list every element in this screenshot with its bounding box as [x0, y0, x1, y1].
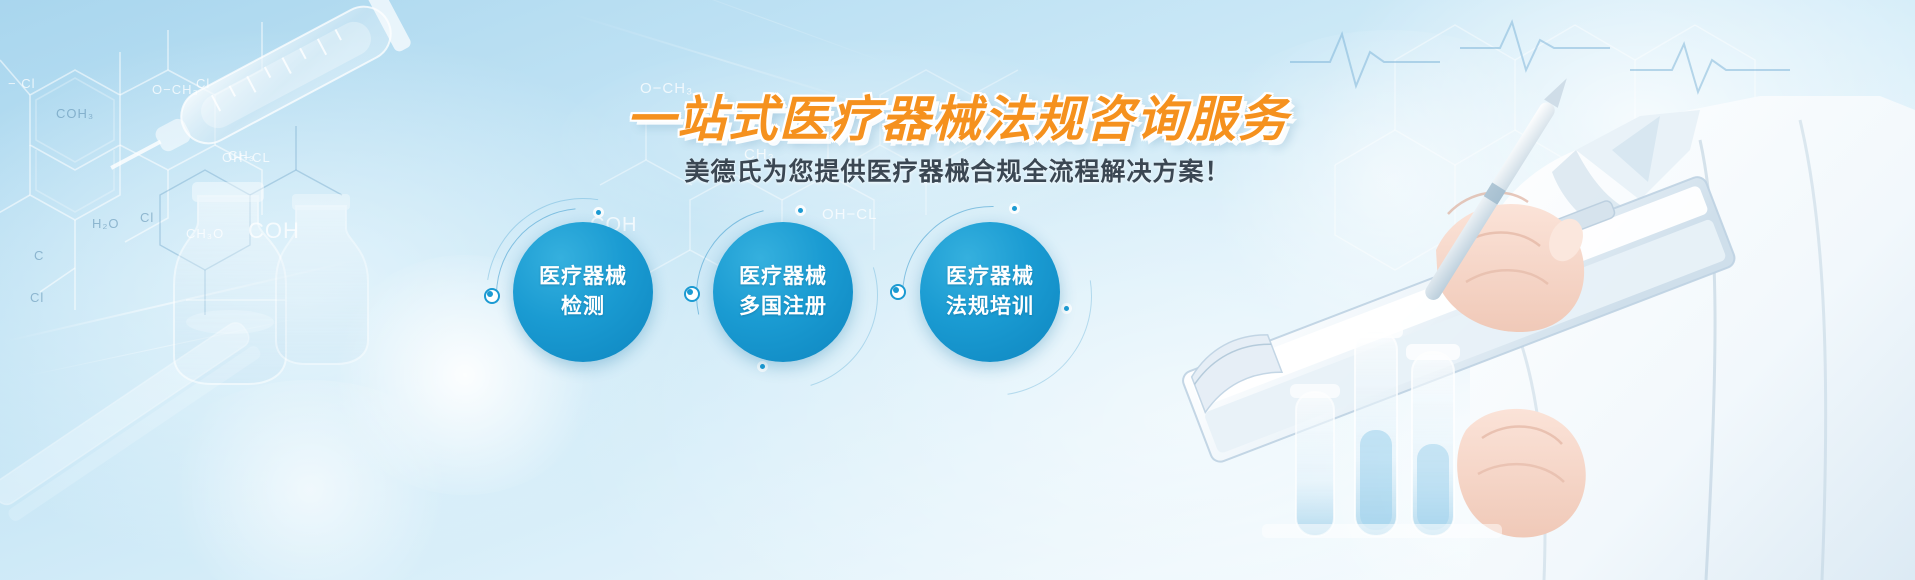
chem-label: OH−CL [822, 206, 877, 223]
accent-dot [890, 284, 906, 300]
accent-dot [1012, 206, 1017, 211]
service-bubble-line2: 法规培训 [946, 292, 1034, 322]
accent-dot [1064, 306, 1069, 311]
service-bubble-line1: 医疗器械 [739, 262, 827, 292]
service-bubble-inspection[interactable]: 医疗器械 检测 [513, 222, 653, 362]
service-bubble-group: 医疗器械 检测 医疗器械 多国注册 医疗器械 法规培训 [0, 222, 1915, 372]
accent-dot [684, 286, 700, 302]
background-glow [150, 380, 470, 580]
light-streak [648, 0, 893, 65]
hero-banner: − Cl Cl COH₃ O−CH₃ CH₃ OH−CL COH H₂O CH₃… [0, 0, 1915, 580]
chem-label: Cl [196, 76, 210, 91]
service-bubble-line1: 医疗器械 [946, 262, 1034, 292]
page-title: 一站式医疗器械法规咨询服务 [0, 92, 1915, 148]
accent-dot [687, 289, 693, 295]
service-bubble-line2: 检测 [561, 292, 605, 322]
accent-dot [798, 208, 803, 213]
accent-dot [596, 210, 601, 215]
service-bubble-line1: 医疗器械 [539, 262, 627, 292]
page-subtitle: 美德氏为您提供医疗器械合规全流程解决方案！ [0, 155, 1915, 189]
accent-dot [487, 291, 493, 297]
service-bubble-registration[interactable]: 医疗器械 多国注册 [713, 222, 853, 362]
accent-dot [484, 288, 500, 304]
accent-dot [893, 287, 899, 293]
accent-dot [760, 364, 765, 369]
chem-label: − Cl [8, 76, 35, 91]
hand-lower [1457, 409, 1586, 538]
service-bubble-line2: 多国注册 [739, 292, 827, 322]
service-bubble-training[interactable]: 医疗器械 法规培训 [920, 222, 1060, 362]
